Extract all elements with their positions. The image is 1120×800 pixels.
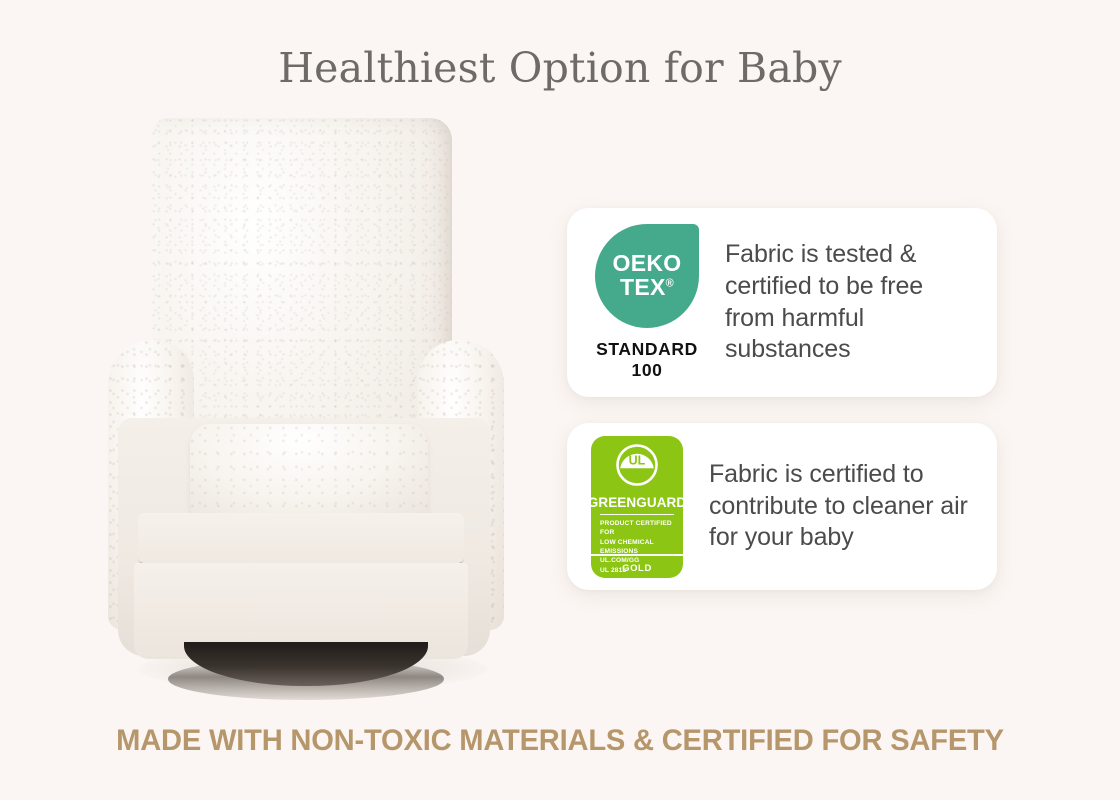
footer-banner: MADE WITH NON-TOXIC MATERIALS & CERTIFIE… [17, 724, 1103, 758]
greenguard-level-label: GOLD [591, 563, 683, 574]
oeko-tex-standard-100-badge: OEKO TEX® STANDARD 100 [591, 224, 703, 381]
card-oekotex-description: Fabric is tested & certified to be free … [725, 239, 975, 366]
ul-leaf-icon: UL [615, 443, 659, 487]
registered-trademark-icon: ® [666, 277, 674, 289]
chair-front-panel-upper [138, 513, 464, 564]
ul-mark-icon: UL [615, 443, 659, 492]
oeko-tex-caption-standard: STANDARD [591, 339, 703, 360]
oeko-tex-line1: OEKO [613, 252, 682, 275]
oeko-tex-line2: TEX® [620, 276, 674, 299]
page-title: Healthiest Option for Baby [0, 44, 1120, 92]
card-greenguard: UL GREENGUARD PRODUCT CERTIFIED FOR LOW … [567, 423, 997, 590]
chair-seat-cushion [190, 424, 428, 516]
greenguard-fine-line-1: PRODUCT CERTIFIED FOR [600, 519, 674, 538]
greenguard-title: GREENGUARD [591, 495, 683, 510]
svg-text:UL: UL [629, 453, 646, 467]
card-greenguard-description: Fabric is certified to contribute to cle… [709, 459, 975, 554]
oeko-tex-drop-icon: OEKO TEX® [595, 224, 699, 328]
oeko-tex-line2-text: TEX [620, 274, 666, 300]
greenguard-gold-divider [591, 554, 683, 556]
greenguard-divider [600, 514, 674, 516]
certification-cards: OEKO TEX® STANDARD 100 Fabric is tested … [567, 208, 997, 590]
greenguard-gold-badge: UL GREENGUARD PRODUCT CERTIFIED FOR LOW … [591, 436, 683, 578]
product-chair-image [108, 118, 518, 698]
card-oekotex: OEKO TEX® STANDARD 100 Fabric is tested … [567, 208, 997, 397]
oeko-tex-caption-number: 100 [591, 360, 703, 381]
